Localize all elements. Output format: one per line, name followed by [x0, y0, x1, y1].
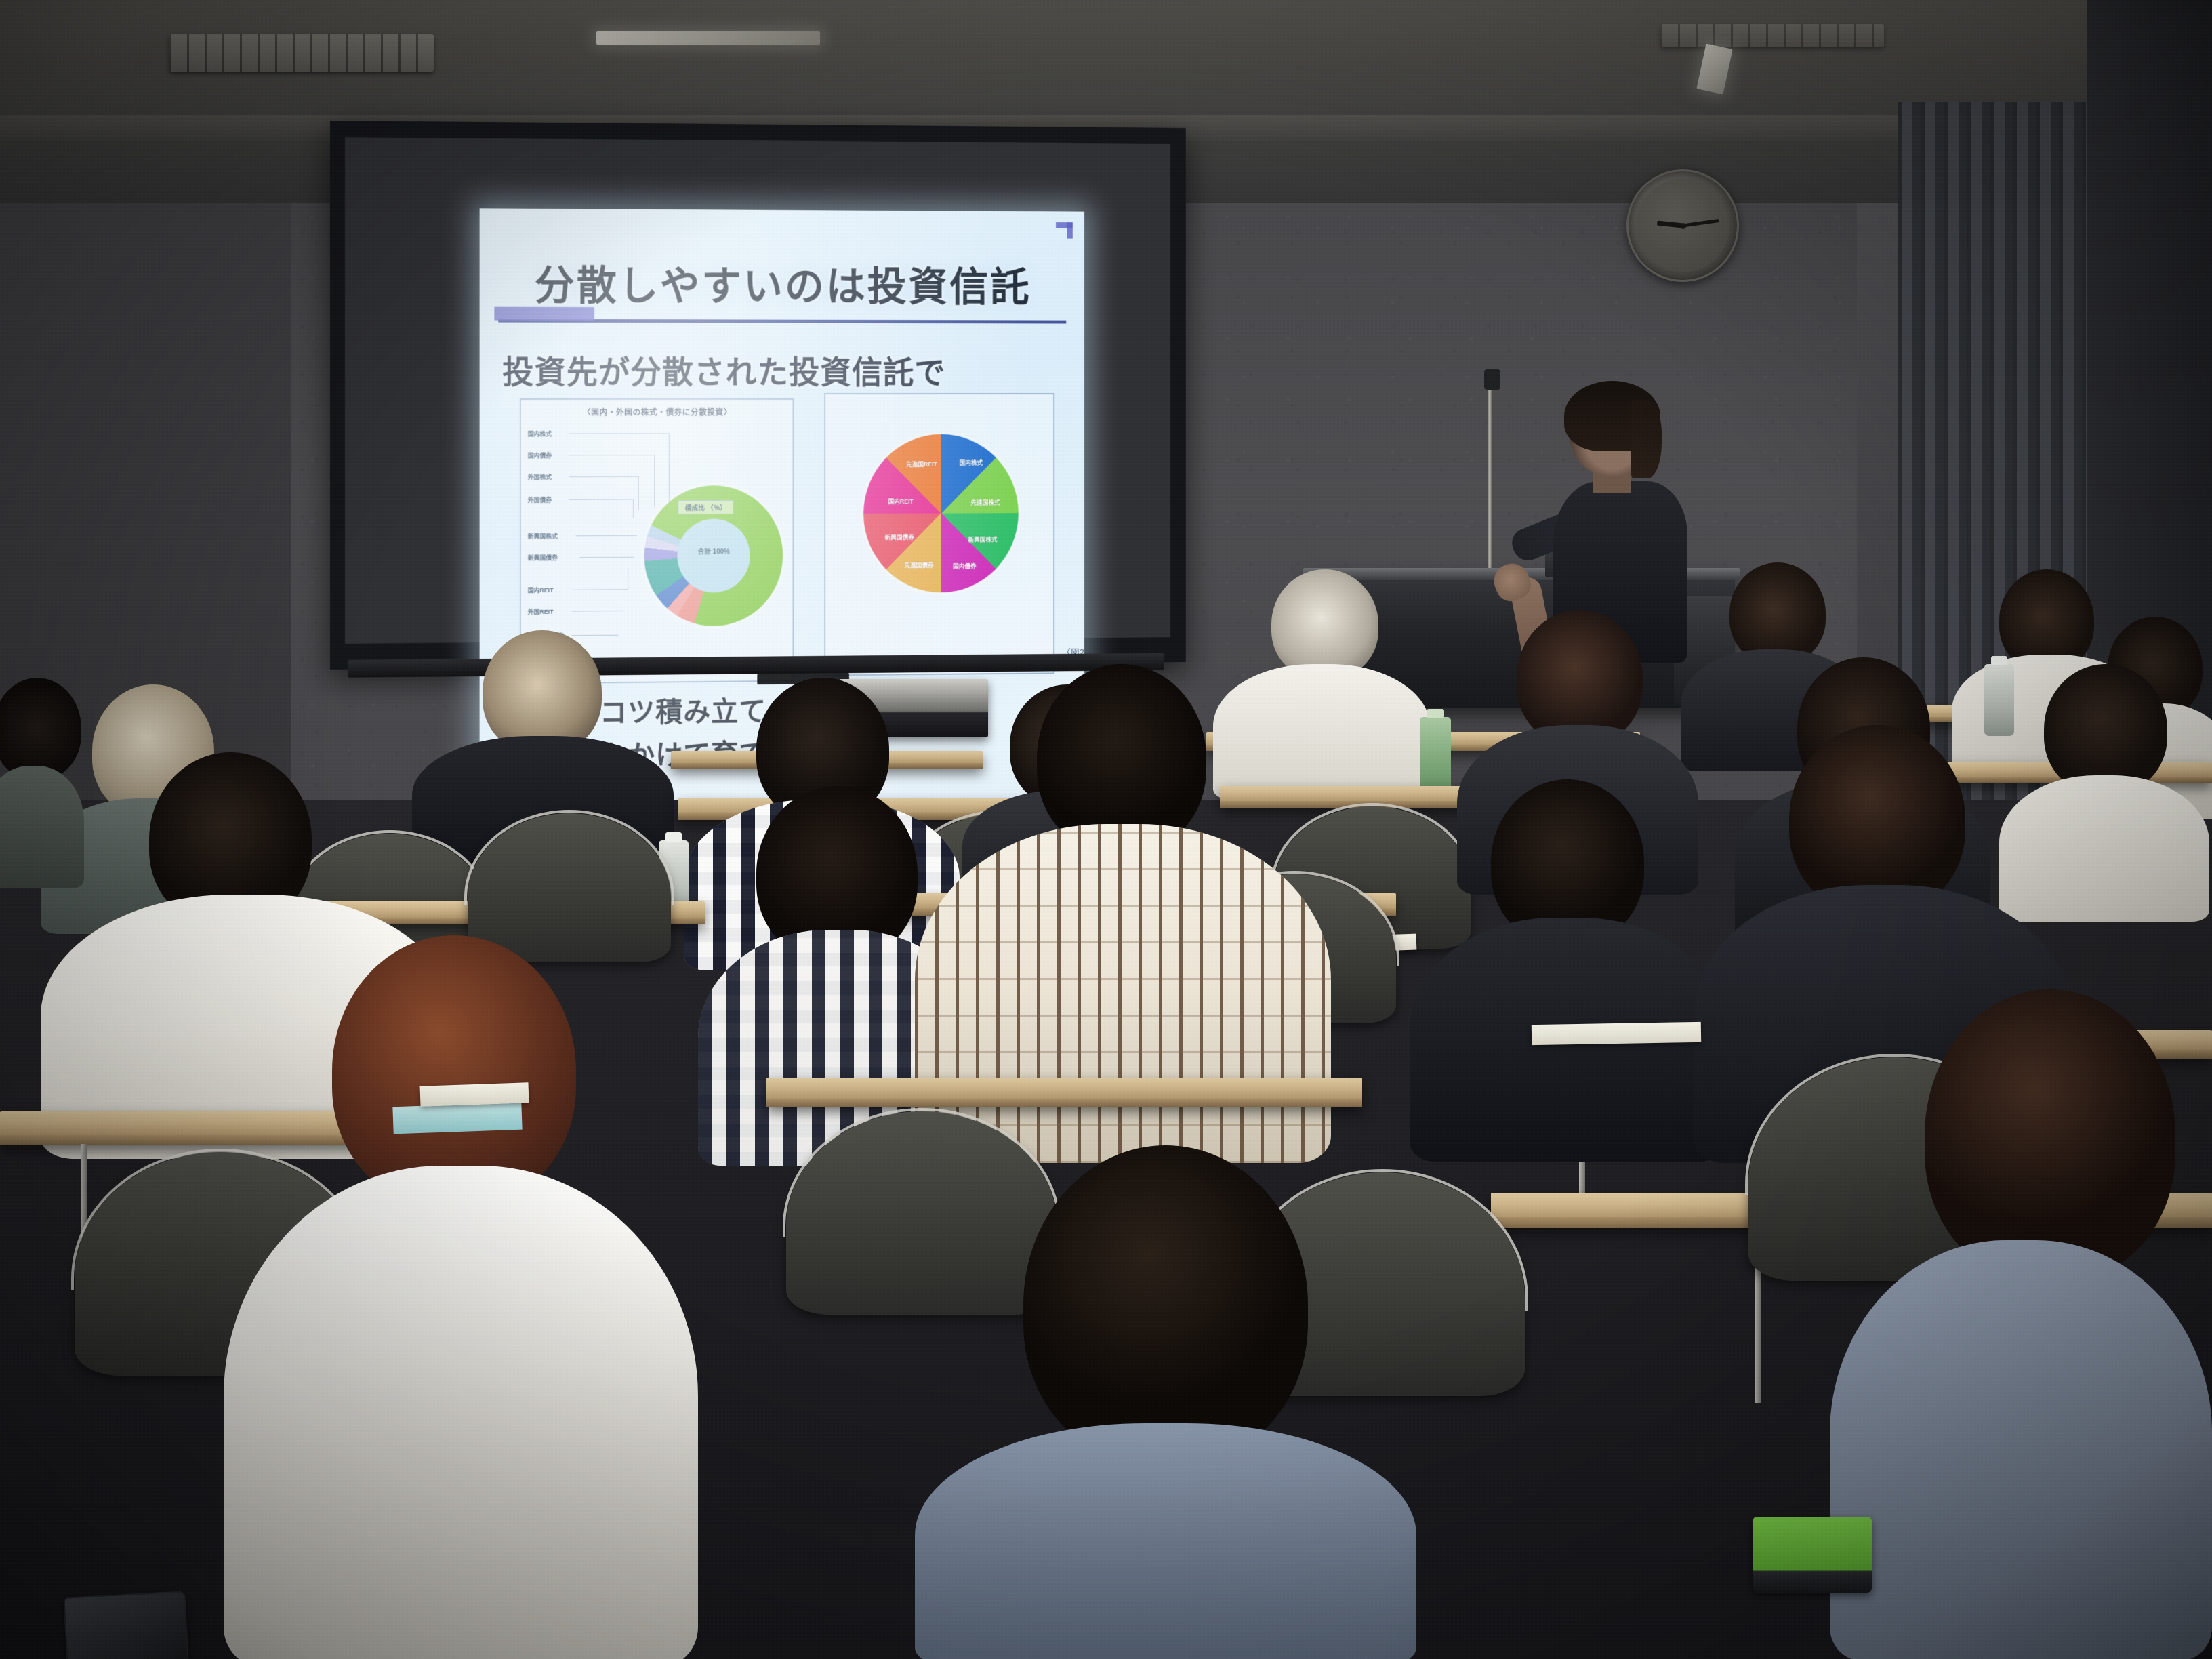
pie-label-4: 先進国債券: [895, 560, 943, 569]
ceiling-vent-right: [1660, 24, 1884, 47]
slide-title-tab: [494, 307, 594, 321]
torso: [915, 1423, 1416, 1659]
pie-label-0: 国内株式: [947, 458, 995, 467]
stripe-pattern-horizontal: [915, 824, 1331, 1163]
chart-left-caption: 〈国内・外国の株式・債券に分散投資〉: [521, 407, 793, 418]
donut-center-label: 合計 100%: [679, 546, 747, 556]
attendee-right-mid: [1410, 779, 1728, 1159]
chart-right-container: 国内株式 先進国株式 新興国株式 国内債券 先進国債券 新興国債券 国内REIT…: [824, 393, 1054, 676]
green-pouch: [1753, 1517, 1872, 1593]
screen-frame: 分散しやすいのは投資信託 投資先が分散された投資信託で 〈国内・外国の株式・債券…: [340, 131, 1176, 649]
pie-label-7: 先進国REIT: [897, 459, 945, 468]
torso: [224, 1166, 698, 1659]
vent-slats: [1660, 24, 1884, 47]
donut-label-3: 外国債券: [528, 495, 552, 504]
pie-label-2: 新興国株式: [959, 535, 1007, 544]
clock-hour-hand: [1657, 221, 1683, 228]
donut-label-6: 国内REIT: [528, 586, 554, 594]
donut-label-5: 新興国債券: [528, 553, 558, 562]
seminar-room-photo: 分散しやすいのは投資信託 投資先が分散された投資信託で 〈国内・外国の株式・債券…: [0, 0, 2212, 1659]
projection-screen: 分散しやすいのは投資信託 投資先が分散された投資信託で 〈国内・外国の株式・債券…: [330, 121, 1186, 670]
pie-label-3: 国内債券: [941, 562, 989, 571]
donut-label-7: 外国REIT: [528, 607, 554, 616]
attendee-front-blue: [915, 1145, 1416, 1659]
head: [1023, 1145, 1308, 1464]
slide-subtitle: 投資先が分散された投資信託で: [502, 346, 945, 392]
handout-row4: [420, 1082, 529, 1107]
attendee-auburn-hair: [224, 935, 698, 1659]
wall-speaker-icon: [1484, 369, 1500, 390]
vent-slats: [169, 34, 434, 72]
wall-clock-icon: [1626, 169, 1739, 282]
bottle-cap: [1427, 709, 1444, 718]
desk-row4-mid: [766, 1078, 1362, 1107]
clock-center-pin: [1680, 223, 1686, 229]
head: [483, 630, 602, 754]
pie-label-5: 新興国債券: [876, 533, 924, 541]
donut-label-1: 国内債券: [528, 451, 552, 459]
donut-label-0: 国内株式: [528, 430, 552, 438]
presenter-hair-side: [1631, 400, 1662, 478]
donut-label-2: 外国株式: [528, 472, 552, 481]
slide-title: 分散しやすいのは投資信託: [480, 253, 1084, 313]
attendee-bottom-right: [1830, 989, 2212, 1659]
head: [1271, 569, 1378, 679]
handout-right: [1532, 1022, 1701, 1045]
bottle-cap: [665, 832, 682, 842]
clock-face: [1636, 179, 1729, 272]
clock-minute-hand: [1683, 219, 1719, 227]
head: [1925, 989, 2175, 1281]
donut-callout-label: 構成比 （％）: [678, 500, 733, 514]
pie-label-1: 先進国株式: [961, 498, 1009, 507]
donut-label-4: 新興国株式: [528, 532, 558, 541]
torso: [1830, 1240, 2212, 1659]
bottle-cap: [1991, 656, 2008, 665]
torso: [915, 824, 1331, 1163]
smartphone[interactable]: [63, 1591, 188, 1659]
downlight-1: [596, 31, 820, 45]
pie-label-6: 国内REIT: [876, 497, 924, 506]
slide-corner-mark-tr2: [1067, 222, 1073, 238]
ceiling-vent-left: [169, 34, 434, 72]
pie-chart: 国内株式 先進国株式 新興国株式 国内債券 先進国債券 新興国債券 国内REIT…: [863, 434, 1019, 593]
teal-handout: [392, 1103, 522, 1134]
